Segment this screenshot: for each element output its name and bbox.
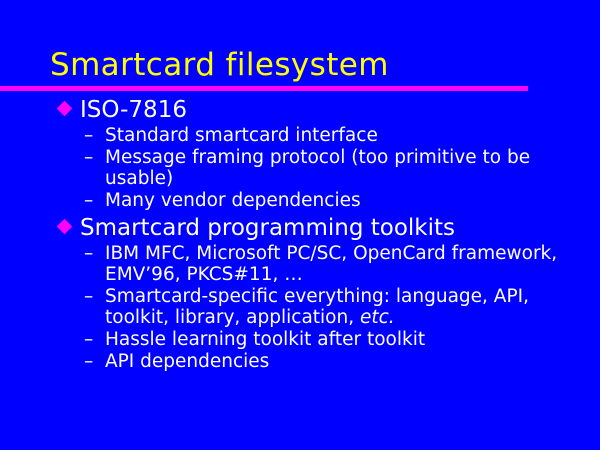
bullet-level2-smartcard-specific: – Smartcard-specific everything: languag… [0, 286, 600, 328]
bullet-level2-label-italic: etc. [360, 307, 395, 328]
dash-bullet-icon: – [84, 125, 93, 146]
bullet-level2-message-framing: – Message framing protocol (too primitiv… [0, 147, 600, 189]
dash-bullet-icon: – [84, 243, 93, 264]
bullet-level1-label: ISO-7816 [80, 96, 600, 124]
bullet-level2-standard-interface: – Standard smartcard interface [0, 125, 600, 146]
bullet-level2-toolkit-list: – IBM MFC, Microsoft PC/SC, OpenCard fra… [0, 243, 600, 285]
bullet-level2-label: Hassle learning toolkit after toolkit [105, 329, 600, 350]
bullet-level2-api-dependencies: – API dependencies [0, 351, 600, 372]
bullet-level2-label: Standard smartcard interface [105, 125, 600, 146]
diamond-bullet-icon [57, 219, 73, 235]
diamond-bullet-icon [57, 101, 73, 117]
bullet-level1-programming-toolkits: Smartcard programming toolkits [0, 214, 600, 242]
bullet-level2-label: Many vendor dependencies [105, 190, 600, 211]
dash-bullet-icon: – [84, 286, 93, 307]
bullet-level2-label: API dependencies [105, 351, 600, 372]
page-title: Smartcard filesystem [50, 47, 389, 83]
dash-bullet-icon: – [84, 147, 93, 168]
slide-body: ISO-7816 – Standard smartcard interface … [0, 96, 600, 372]
dash-bullet-icon: – [84, 190, 93, 211]
title-divider [0, 86, 528, 91]
bullet-level1-iso7816: ISO-7816 [0, 96, 600, 124]
bullet-level2-hassle-learning: – Hassle learning toolkit after toolkit [0, 329, 600, 350]
slide-canvas: Smartcard filesystem ISO-7816 – Standard… [0, 0, 600, 450]
dash-bullet-icon: – [84, 351, 93, 372]
bullet-level2-label-main: Smartcard-specific everything: language,… [105, 286, 529, 328]
bullet-level2-vendor-dependencies: – Many vendor dependencies [0, 190, 600, 211]
bullet-level2-label: Message framing protocol (too primitive … [105, 147, 600, 189]
bullet-level2-label: Smartcard-specific everything: language,… [105, 286, 600, 328]
dash-bullet-icon: – [84, 329, 93, 350]
bullet-level2-label: IBM MFC, Microsoft PC/SC, OpenCard frame… [105, 243, 600, 285]
bullet-level1-label: Smartcard programming toolkits [80, 214, 600, 242]
